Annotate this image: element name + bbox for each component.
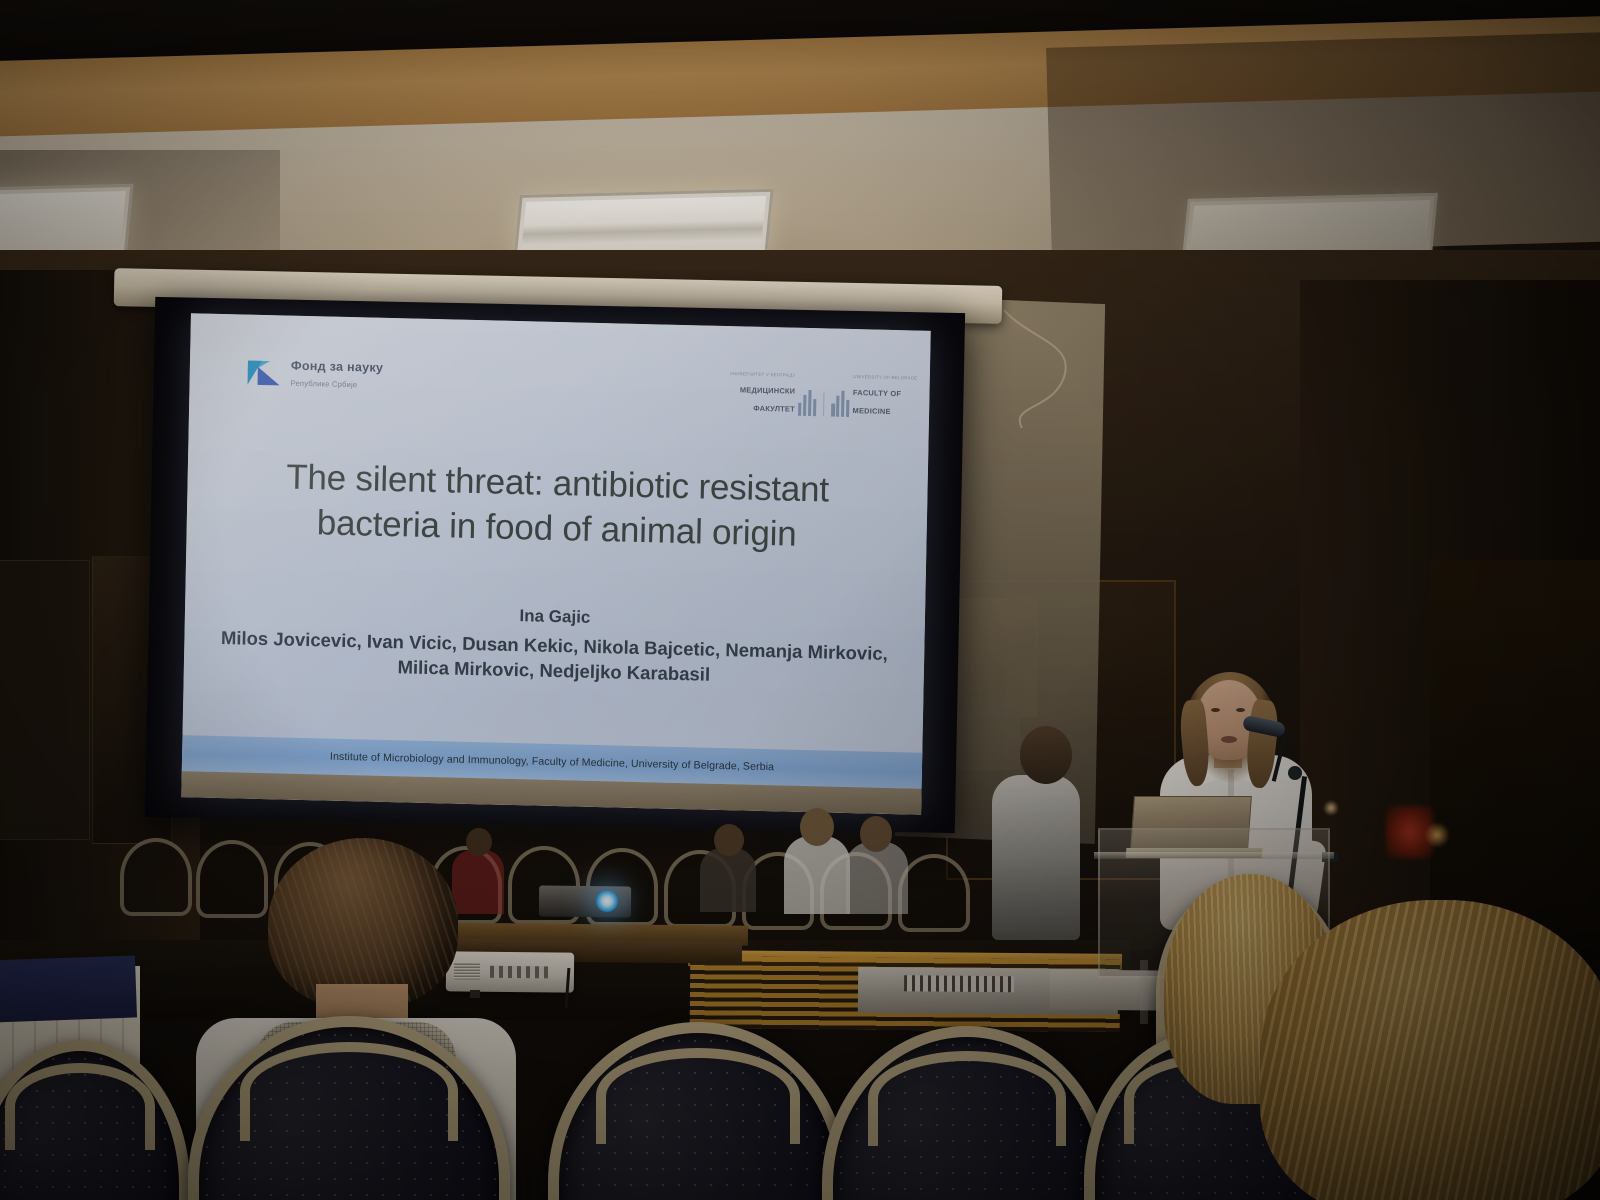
foreground-chair xyxy=(188,1016,510,1200)
audience-member-head xyxy=(860,816,892,852)
audience-member-head xyxy=(800,808,834,846)
foreground-chair xyxy=(0,1040,190,1200)
speaker-mouth xyxy=(1221,736,1237,743)
science-fund-mark-icon xyxy=(247,359,284,388)
faculty-logo-bars-icon xyxy=(798,390,817,416)
audience-member-head xyxy=(714,824,744,856)
speaker-eye-left xyxy=(1211,708,1220,712)
audience-member-seated xyxy=(452,850,504,914)
front-row-attendee-hair-strands xyxy=(268,838,458,1008)
warm-ambient-light xyxy=(1323,800,1339,816)
faculty-logo-serbian-line-2: ФАКУЛТЕТ xyxy=(753,403,795,413)
science-fund-line-2: Републике Србије xyxy=(290,379,357,390)
science-fund-logo: Фонд за науку Републике Србије xyxy=(247,357,383,392)
presentation-slide: Фонд за науку Републике Србије УНИВЕРЗИТ… xyxy=(181,313,931,815)
slide-title: The silent threat: antibiotic resistant … xyxy=(220,454,894,560)
chair-midground xyxy=(196,840,268,918)
faculty-logo-bars-secondary-icon xyxy=(831,390,850,416)
faculty-logo-serbian-text: УНИВЕРЗИТЕТ У БЕОГРАДУ МЕДИЦИНСКИ ФАКУЛТ… xyxy=(729,362,796,415)
speaker-eye-right xyxy=(1236,708,1245,712)
faculty-logo-english-line-2: MEDICINE xyxy=(853,406,891,416)
standing-attendee-body xyxy=(992,775,1080,940)
chair-cutout xyxy=(5,1063,155,1150)
lectern-leg-left xyxy=(1140,960,1148,1024)
audio-rack-knobs-icon xyxy=(904,975,1014,992)
slide-affiliation-text: Institute of Microbiology and Immunology… xyxy=(330,751,774,774)
recessed-ceiling-light-left-icon xyxy=(0,184,134,260)
faculty-logo-serbian-line-1: МЕДИЦИНСКИ xyxy=(740,386,796,396)
amber-ambient-light xyxy=(1424,822,1450,848)
projector-vent-icon xyxy=(454,963,480,979)
projector-ports-icon xyxy=(490,966,548,979)
faculty-of-medicine-logo: УНИВЕРЗИТЕТ У БЕОГРАДУ МЕДИЦИНСКИ ФАКУЛТ… xyxy=(729,362,918,418)
audience-member-head xyxy=(466,828,492,856)
chair-midground xyxy=(898,854,970,932)
faculty-logo-english-university: UNIVERSITY OF BELGRADE xyxy=(853,374,917,381)
microphone-joint[interactable] xyxy=(1288,766,1302,780)
chair-cutout xyxy=(240,1042,459,1141)
chair-midground xyxy=(120,838,192,916)
projector-foot xyxy=(470,990,480,998)
audience-member-seated xyxy=(784,836,850,914)
standing-attendee-head xyxy=(1020,726,1072,784)
conference-room-photo: Фонд за науку Републике Србије УНИВЕРЗИТ… xyxy=(0,0,1600,1200)
projector-spare xyxy=(446,951,574,992)
chair-cutout xyxy=(868,1051,1065,1146)
science-fund-line-1: Фонд за науку xyxy=(291,359,384,375)
faculty-logo-serbian-block: УНИВЕРЗИТЕТ У БЕОГРАДУ МЕДИЦИНСКИ ФАКУЛТ… xyxy=(729,362,817,416)
chair-cutout xyxy=(596,1048,800,1144)
science-fund-wordmark: Фонд за науку Републике Србије xyxy=(290,358,383,392)
faculty-logo-english-block: UNIVERSITY OF BELGRADE FACULTY OF MEDICI… xyxy=(831,365,918,419)
table-navy-runner xyxy=(0,955,137,1022)
hanging-cable-icon xyxy=(1000,310,1090,430)
faculty-logo-english-text: UNIVERSITY OF BELGRADE FACULTY OF MEDICI… xyxy=(852,365,917,418)
audience-member-seated xyxy=(846,842,908,914)
foreground-chair xyxy=(822,1026,1112,1200)
lectern-rail xyxy=(1094,852,1334,859)
window-pane-left-1 xyxy=(0,560,90,840)
faculty-logo-serbian-university: УНИВЕРЗИТЕТ У БЕОГРАДУ xyxy=(730,371,796,378)
faculty-logo-english-line-1: FACULTY OF xyxy=(853,388,901,398)
front-row-blonde-attendee-2-hair-strands xyxy=(1260,900,1600,1200)
projector-lens-icon xyxy=(596,890,618,912)
faculty-logo-divider xyxy=(823,392,824,416)
foreground-chair xyxy=(548,1022,848,1200)
audience-member-seated xyxy=(700,848,756,912)
